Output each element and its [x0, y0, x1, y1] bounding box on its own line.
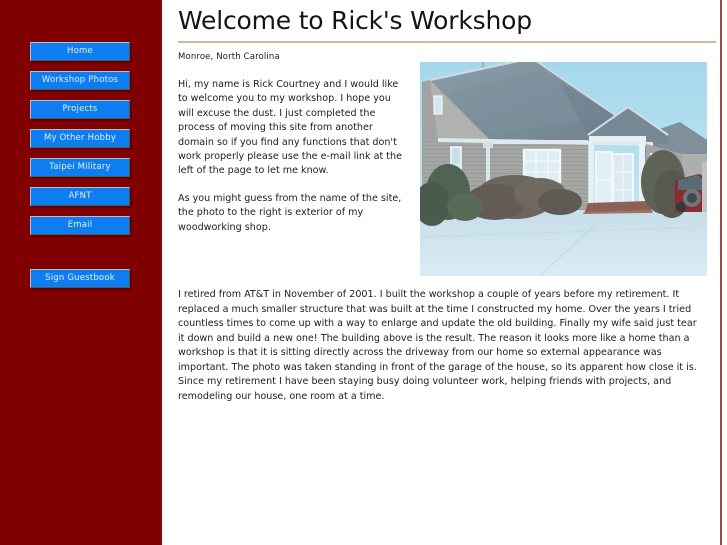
sign-guestbook-button[interactable]: Sign Guestbook — [30, 269, 130, 288]
sidebar-item-email[interactable]: Email — [30, 216, 130, 235]
sidebar-item-my-other-hobby[interactable]: My Other Hobby — [30, 129, 130, 148]
location-label: Monroe, North Carolina — [178, 52, 280, 62]
main-content: Welcome to Rick's Workshop Monroe, North… — [162, 0, 720, 545]
body-paragraph: I retired from AT&T in November of 2001.… — [178, 288, 706, 404]
intro-text: Hi, my name is Rick Courtney and I would… — [178, 78, 406, 248]
sidebar-item-workshop-photos[interactable]: Workshop Photos — [30, 71, 130, 90]
sidebar: Home Workshop Photos Projects My Other H… — [0, 0, 160, 545]
workshop-photo-image — [420, 62, 707, 276]
intro-paragraph-2: As you might guess from the name of the … — [178, 192, 406, 235]
sidebar-item-projects[interactable]: Projects — [30, 100, 130, 119]
sidebar-nav: Home Workshop Photos Projects My Other H… — [0, 42, 160, 298]
workshop-photo — [420, 62, 707, 276]
sidebar-item-home[interactable]: Home — [30, 42, 130, 61]
page-root: Home Workshop Photos Projects My Other H… — [0, 0, 727, 545]
page-right-border — [720, 0, 722, 545]
nav-spacer — [0, 245, 160, 269]
sidebar-item-taipei-military[interactable]: Taipei Military — [30, 158, 130, 177]
page-title: Welcome to Rick's Workshop — [178, 6, 532, 35]
sidebar-item-afnt[interactable]: AFNT — [30, 187, 130, 206]
intro-paragraph-1: Hi, my name is Rick Courtney and I would… — [178, 78, 406, 179]
body-text: I retired from AT&T in November of 2001.… — [178, 288, 706, 404]
title-divider — [178, 41, 716, 43]
